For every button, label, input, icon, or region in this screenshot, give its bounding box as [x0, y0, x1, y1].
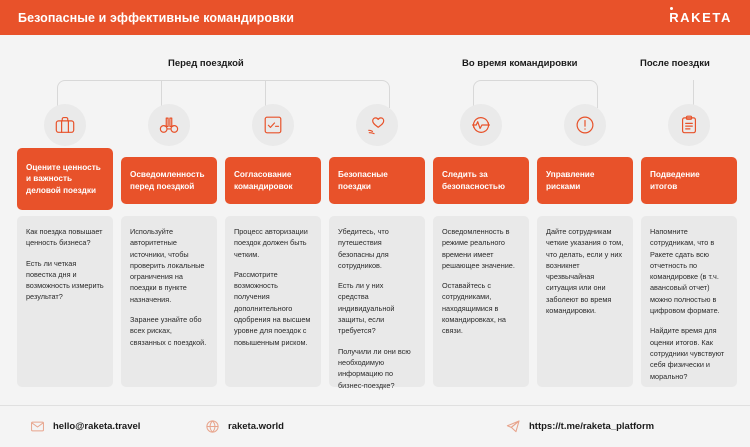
clipboard-icon: [668, 104, 710, 146]
body-paragraph: Есть ли четкая повестка дня и возможност…: [26, 258, 104, 303]
phase-heading-during-trip: Во время командировки: [462, 58, 577, 69]
bracket-leg-mid-1: [161, 80, 162, 108]
pulse-monitor-icon: [460, 104, 502, 146]
phase-heading-after-trip: После поездки: [640, 58, 710, 69]
card-body: Дайте сотрудникам четкие указания о том,…: [537, 216, 633, 387]
footer-website-label: raketa.world: [228, 421, 284, 432]
checklist-icon: [252, 104, 294, 146]
body-paragraph: Напомните сотрудникам, что в Ракете сдат…: [650, 226, 728, 316]
footer-telegram-label: https://t.me/raketa_platform: [529, 421, 654, 432]
bracket-leg-right: [597, 88, 598, 108]
envelope-icon: [30, 419, 45, 434]
card-body: Осведомленность в режиме реального време…: [433, 216, 529, 387]
bracket-corner-right: [382, 80, 390, 88]
body-paragraph: Осведомленность в режиме реального време…: [442, 226, 520, 271]
bracket-corner-left: [473, 80, 481, 88]
page-header: Безопасные и эффективные командировки RA…: [0, 0, 750, 35]
telegram-send-icon: [505, 419, 521, 435]
bracket-top-line: [481, 80, 590, 81]
body-paragraph: Заранее узнайте обо всех рисках, связанн…: [130, 314, 208, 348]
binoculars-icon: [148, 104, 190, 146]
card-title: Подведение итогов: [641, 157, 737, 204]
card-title: Осведомленность перед поездкой: [121, 157, 217, 204]
connector-bracket-before-trip: [57, 80, 390, 108]
body-paragraph: Используйте авторитетные источники, чтоб…: [130, 226, 208, 305]
suitcase-icon: [44, 104, 86, 146]
body-paragraph: Найдите время для оценки итогов. Как сот…: [650, 325, 728, 381]
alert-circle-icon: [564, 104, 606, 146]
card-title: Оцените ценность и важность деловой поез…: [17, 148, 113, 210]
body-paragraph: Убедитесь, что путешествия безопасны для…: [338, 226, 416, 271]
body-paragraph: Рассмотрите возможность получения дополн…: [234, 269, 312, 348]
page-title: Безопасные и эффективные командировки: [18, 11, 294, 25]
page-footer: hello@raketa.travel raketa.world https:/…: [0, 405, 750, 447]
card-body: Напомните сотрудникам, что в Ракете сдат…: [641, 216, 737, 387]
globe-icon: [205, 419, 220, 434]
body-paragraph: Оставайтесь с сотрудниками, находящимися…: [442, 280, 520, 336]
bracket-corner-left: [57, 80, 65, 88]
bracket-leg-right: [389, 88, 390, 108]
card-body: Убедитесь, что путешествия безопасны для…: [329, 216, 425, 387]
infographic-page: Безопасные и эффективные командировки RA…: [0, 0, 750, 447]
card-title: Безопасные поездки: [329, 157, 425, 204]
body-paragraph: Дайте сотрудникам четкие указания о том,…: [546, 226, 624, 316]
card-body: Используйте авторитетные источники, чтоб…: [121, 216, 217, 387]
bracket-leg-mid-2: [265, 80, 266, 108]
footer-email-label: hello@raketa.travel: [53, 421, 140, 432]
bracket-top-line: [65, 80, 382, 81]
card-title: Следить за безопасностью: [433, 157, 529, 204]
heart-hand-icon: [356, 104, 398, 146]
brand-logo: RAKETA: [669, 10, 732, 25]
card-title: Согласование командировок: [225, 157, 321, 204]
footer-email-link[interactable]: hello@raketa.travel: [30, 419, 140, 434]
body-paragraph: Как поездка повышает ценность бизнеса?: [26, 226, 104, 249]
bracket-corner-right: [590, 80, 598, 88]
footer-website-link[interactable]: raketa.world: [205, 419, 284, 434]
body-paragraph: Процесс авторизации поездок должен быть …: [234, 226, 312, 260]
card-title: Управление рисками: [537, 157, 633, 204]
footer-telegram-link[interactable]: https://t.me/raketa_platform: [505, 419, 654, 435]
phase-heading-before-trip: Перед поездкой: [168, 58, 244, 69]
body-paragraph: Есть ли у них средства индивидуальной за…: [338, 280, 416, 336]
card-body: Как поездка повышает ценность бизнеса? Е…: [17, 216, 113, 387]
card-body: Процесс авторизации поездок должен быть …: [225, 216, 321, 387]
body-paragraph: Получили ли они всю необходимую информац…: [338, 346, 416, 391]
brand-logo-text: RAKETA: [669, 10, 732, 25]
